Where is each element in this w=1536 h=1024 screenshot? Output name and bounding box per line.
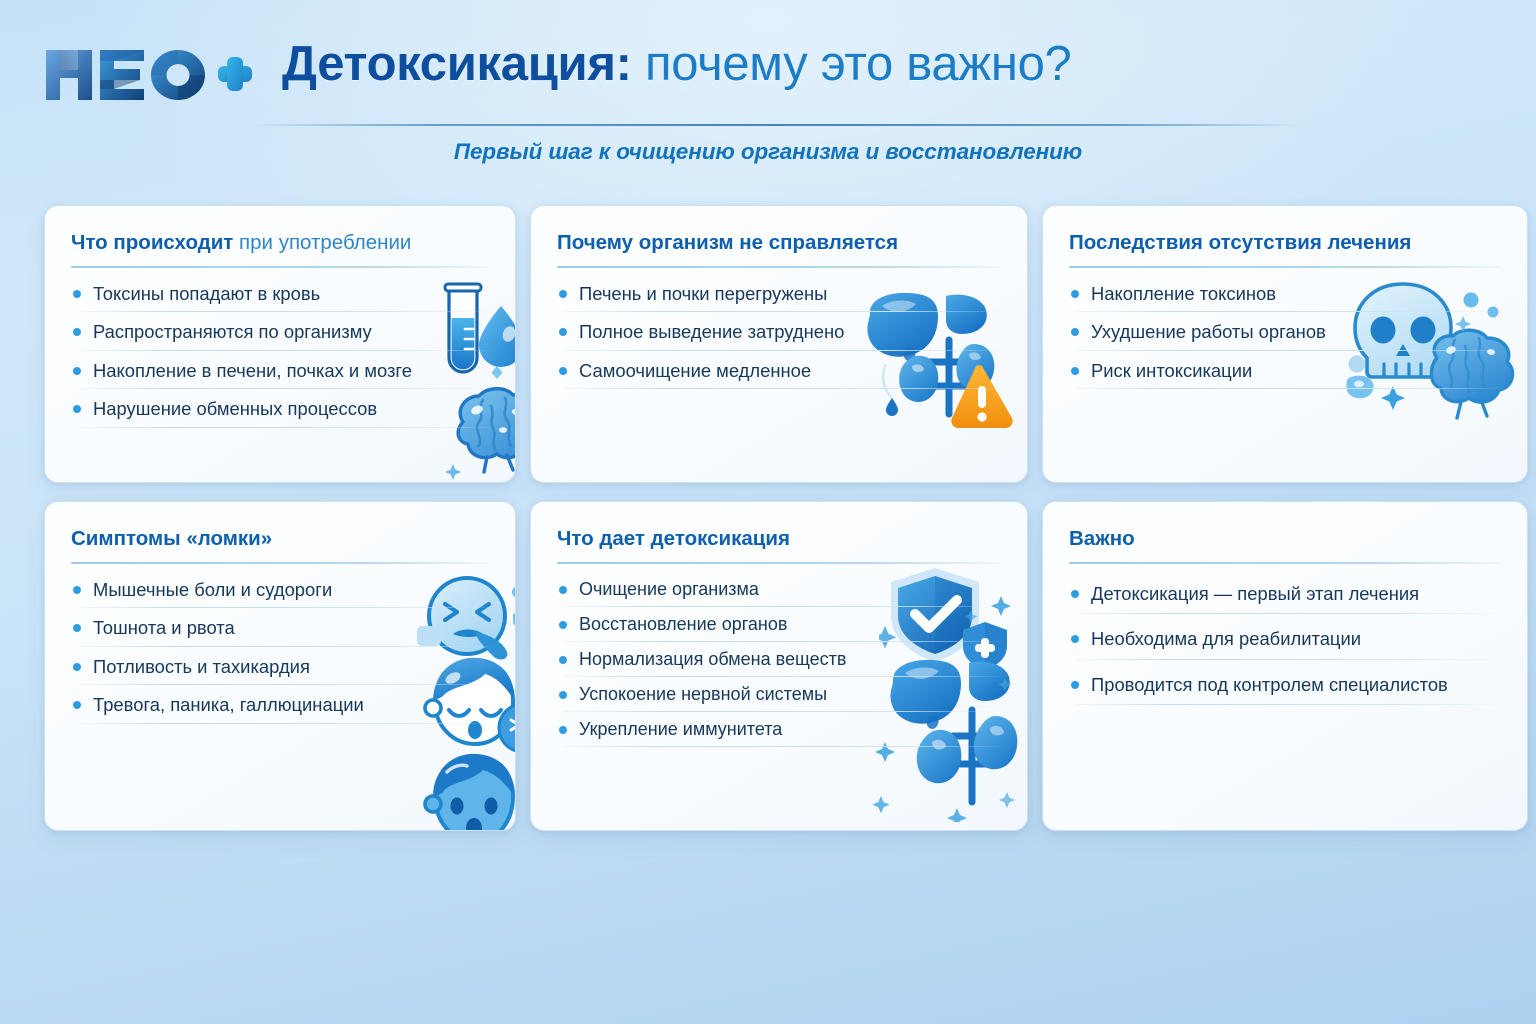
card-title: Почему организм не справляется bbox=[557, 232, 1003, 255]
card-title-bold: Что происходит bbox=[71, 231, 233, 254]
card-title-bold: Что дает детоксикация bbox=[557, 527, 790, 550]
item-divider bbox=[565, 711, 1007, 712]
card-item-list: Накопление токсинов Ухудшение работы орг… bbox=[1067, 282, 1503, 390]
list-item: Самоочищение медленное bbox=[555, 359, 1003, 390]
list-item: Укрепление иммунитета bbox=[555, 718, 1003, 747]
card-detox-benefits: Что дает детоксикация bbox=[530, 501, 1028, 831]
list-item-label: Ухудшение работы органов bbox=[1091, 321, 1326, 342]
card-item-list: Очищение организма Восстановление органо… bbox=[555, 578, 1003, 747]
card-what-happens: Что происходит при употреблении bbox=[44, 205, 516, 483]
list-item-label: Риск интоксикации bbox=[1091, 360, 1252, 381]
card-title: Последствия отсутствия лечения bbox=[1069, 232, 1503, 255]
title-secondary: почему это важно? bbox=[632, 37, 1072, 91]
card-title-light: при употреблении bbox=[233, 231, 411, 254]
list-item-label: Укрепление иммунитета bbox=[579, 719, 782, 739]
list-item: Риск интоксикации bbox=[1067, 359, 1503, 390]
list-item-label: Успокоение нервной системы bbox=[579, 684, 827, 704]
list-item: Тошнота и рвота bbox=[69, 616, 491, 647]
card-why-body-fails: Почему организм не справляется bbox=[530, 205, 1028, 483]
list-item-label: Необходима для реабилитации bbox=[1091, 628, 1361, 649]
list-item-label: Накопление в печени, почках и мозге bbox=[93, 360, 412, 381]
card-title: Что происходит при употреблении bbox=[71, 232, 491, 255]
item-divider bbox=[79, 350, 495, 351]
header: Детоксикация: почему это важно? Первый ш… bbox=[0, 0, 1536, 185]
item-divider bbox=[1077, 311, 1507, 312]
list-item-label: Нормализация обмена веществ bbox=[579, 649, 846, 669]
item-divider bbox=[79, 427, 495, 428]
card-title-divider bbox=[71, 562, 489, 564]
card-withdrawal-symptoms: Симптомы «ломки» bbox=[44, 501, 516, 831]
list-item: Нормализация обмена веществ bbox=[555, 648, 1003, 677]
list-item-label: Восстановление органов bbox=[579, 614, 787, 634]
card-grid: Что происходит при употреблении bbox=[44, 205, 1500, 831]
list-item-label: Нарушение обменных процессов bbox=[93, 398, 377, 419]
card-title-bold: Симптомы «ломки» bbox=[71, 527, 272, 550]
card-consequences: Последствия отсутствия лечения bbox=[1042, 205, 1528, 483]
item-divider bbox=[79, 607, 495, 608]
list-item: Необходима для реабилитации bbox=[1067, 627, 1503, 660]
card-item-list: Токсины попадают в кровь Распространяютс… bbox=[69, 282, 491, 428]
item-divider bbox=[565, 311, 1007, 312]
card-title-divider bbox=[71, 266, 489, 268]
item-divider bbox=[565, 350, 1007, 351]
list-item-label: Очищение организма bbox=[579, 579, 759, 599]
list-item: Печень и почки перегружены bbox=[555, 282, 1003, 313]
list-item: Распространяются по организму bbox=[69, 320, 491, 351]
item-divider bbox=[565, 746, 1007, 747]
card-title-bold: Важно bbox=[1069, 527, 1135, 550]
header-divider bbox=[248, 124, 1303, 126]
card-title-divider bbox=[1069, 562, 1501, 564]
item-divider bbox=[565, 388, 1007, 389]
card-item-list: Детоксикация — первый этап лечения Необх… bbox=[1067, 582, 1503, 706]
card-title-bold: Почему организм не справляется bbox=[557, 231, 898, 254]
card-title: Важно bbox=[1069, 528, 1503, 551]
item-divider bbox=[1077, 350, 1507, 351]
page-title: Детоксикация: почему это важно? bbox=[282, 36, 1282, 92]
card-title-bold: Последствия отсутствия лечения bbox=[1069, 231, 1411, 254]
item-divider bbox=[565, 606, 1007, 607]
list-item: Ухудшение работы органов bbox=[1067, 320, 1503, 351]
item-divider bbox=[79, 684, 495, 685]
list-item-label: Полное выведение затруднено bbox=[579, 321, 844, 342]
list-item: Накопление в печени, почках и мозге bbox=[69, 359, 491, 390]
item-divider bbox=[79, 311, 495, 312]
card-title-divider bbox=[557, 562, 1001, 564]
item-divider bbox=[79, 646, 495, 647]
item-divider bbox=[79, 723, 495, 724]
list-item-label: Тошнота и рвота bbox=[93, 617, 235, 638]
list-item-label: Мышечные боли и судороги bbox=[93, 579, 332, 600]
list-item-label: Самоочищение медленное bbox=[579, 360, 811, 381]
title-primary: Детоксикация: bbox=[282, 37, 632, 91]
item-divider bbox=[1077, 388, 1507, 389]
list-item-label: Тревога, паника, галлюцинации bbox=[93, 694, 364, 715]
list-item-label: Потливость и тахикардия bbox=[93, 656, 310, 677]
list-item: Тревога, паника, галлюцинации bbox=[69, 693, 491, 724]
card-title: Симптомы «ломки» bbox=[71, 528, 491, 551]
item-divider bbox=[1077, 659, 1507, 660]
list-item: Восстановление органов bbox=[555, 613, 1003, 642]
item-divider bbox=[79, 388, 495, 389]
card-item-list: Мышечные боли и судороги Тошнота и рвота… bbox=[69, 578, 491, 724]
shocked-face-icon bbox=[413, 750, 516, 831]
neo-plus-logo bbox=[44, 44, 254, 106]
list-item-label: Печень и почки перегружены bbox=[579, 283, 827, 304]
list-item: Потливость и тахикардия bbox=[69, 655, 491, 686]
list-item: Токсины попадают в кровь bbox=[69, 282, 491, 313]
card-title-divider bbox=[557, 266, 1001, 268]
list-item: Полное выведение затруднено bbox=[555, 320, 1003, 351]
list-item-label: Накопление токсинов bbox=[1091, 283, 1276, 304]
item-divider bbox=[1077, 704, 1507, 705]
list-item: Проводится под контролем специалистов bbox=[1067, 673, 1503, 706]
list-item: Нарушение обменных процессов bbox=[69, 397, 491, 428]
item-divider bbox=[1077, 613, 1507, 614]
list-item: Детоксикация — первый этап лечения bbox=[1067, 582, 1503, 615]
item-divider bbox=[565, 676, 1007, 677]
list-item: Успокоение нервной системы bbox=[555, 683, 1003, 712]
list-item-label: Токсины попадают в кровь bbox=[93, 283, 320, 304]
list-item-label: Распространяются по организму bbox=[93, 321, 372, 342]
card-important: Важно Детоксикация — первый этап лечения… bbox=[1042, 501, 1528, 831]
item-divider bbox=[565, 641, 1007, 642]
card-title: Что дает детоксикация bbox=[557, 528, 1003, 551]
card-item-list: Печень и почки перегружены Полное выведе… bbox=[555, 282, 1003, 390]
list-item: Накопление токсинов bbox=[1067, 282, 1503, 313]
page-subtitle: Первый шаг к очищению организма и восста… bbox=[0, 139, 1536, 165]
list-item: Очищение организма bbox=[555, 578, 1003, 607]
list-item-label: Проводится под контролем специалистов bbox=[1091, 674, 1448, 695]
list-item: Мышечные боли и судороги bbox=[69, 578, 491, 609]
card-title-divider bbox=[1069, 266, 1501, 268]
list-item-label: Детоксикация — первый этап лечения bbox=[1091, 583, 1419, 604]
